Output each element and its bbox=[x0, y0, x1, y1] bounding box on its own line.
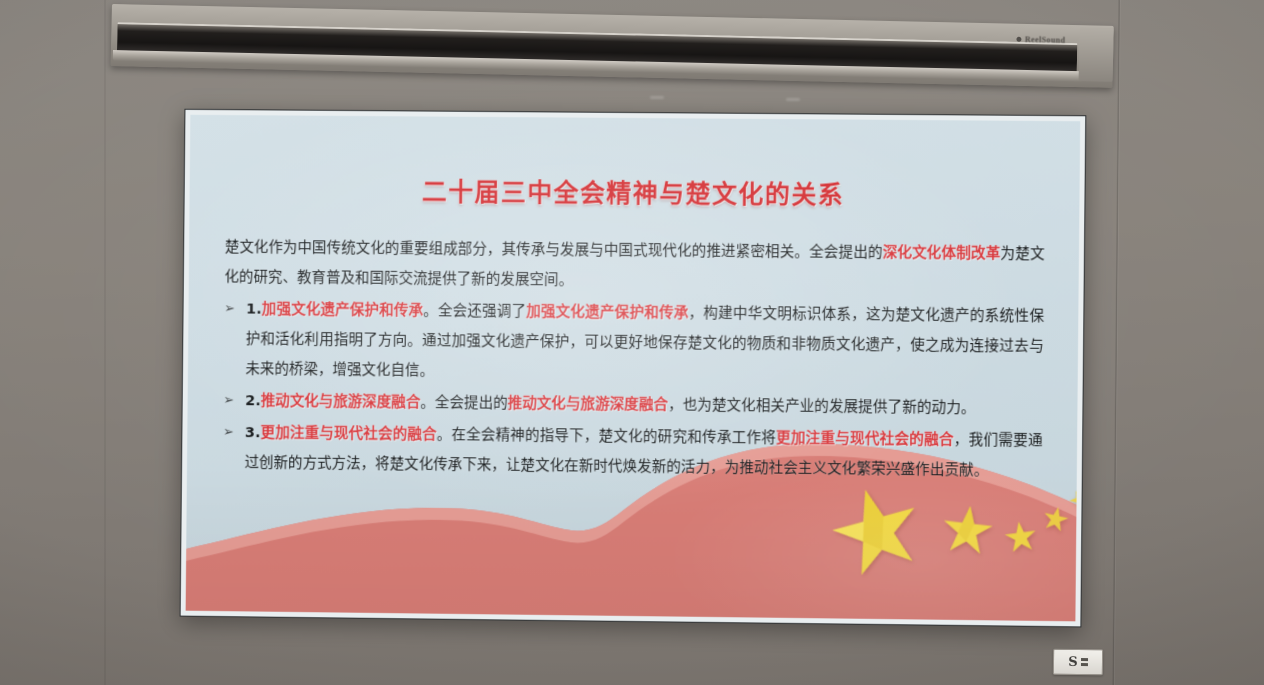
bullet-arrow-icon: ➢ bbox=[223, 418, 234, 448]
projected-slide: 二十届三中全会精神与楚文化的关系 楚文化作为中国传统文化的重要组成部分，其传承与… bbox=[180, 109, 1087, 628]
intro-paragraph: 楚文化作为中国传统文化的重要组成部分，其传承与发展与中国式现代化的推进紧密相关。… bbox=[224, 233, 1044, 300]
bullet-number-3: 3. bbox=[245, 424, 261, 441]
slide-canvas: 二十届三中全会精神与楚文化的关系 楚文化作为中国传统文化的重要组成部分，其传承与… bbox=[186, 115, 1081, 622]
equipment-label-bars-icon bbox=[1081, 658, 1088, 666]
highlighted-phrase: 推动文化与旅游深度融合 bbox=[508, 395, 669, 414]
slide-body: 楚文化作为中国传统文化的重要组成部分，其传承与发展与中国式现代化的推进紧密相关。… bbox=[223, 233, 1045, 487]
projector-brand-logo: ReelSound bbox=[1016, 35, 1066, 45]
highlighted-phrase: 更加注重与现代社会的融合 bbox=[776, 429, 954, 448]
bullet-item-3: ➢ 3.更加注重与现代社会的融合。在全会精神的指导下，楚文化的研究和传承工作将更… bbox=[223, 418, 1043, 487]
slide-title: 二十届三中全会精神与楚文化的关系 bbox=[189, 171, 1079, 214]
brand-dot-icon bbox=[1016, 37, 1021, 42]
equipment-label-glyph: S bbox=[1068, 655, 1078, 668]
wall-seam-left bbox=[104, 0, 106, 685]
bullet-number-2: 2. bbox=[245, 392, 261, 409]
ceiling-mark-2 bbox=[786, 98, 800, 101]
bullet-number-1: 1. bbox=[246, 301, 262, 318]
body-text-run: 。全会提出的 bbox=[420, 394, 507, 412]
bullet-text-1: 加强文化遗产保护和传承。全会还强调了加强文化遗产保护和传承，构建中华文明标识体系… bbox=[245, 301, 1044, 379]
classroom-photo-scene: ReelSound S bbox=[0, 0, 1264, 685]
bullet-text-3: 更加注重与现代社会的融合。在全会精神的指导下，楚文化的研究和传承工作将更加注重与… bbox=[244, 424, 1042, 479]
highlighted-phrase: 深化文化体制改革 bbox=[883, 244, 1001, 262]
brand-mark-text: ReelSound bbox=[1025, 35, 1066, 45]
slide-frame: 二十届三中全会精神与楚文化的关系 楚文化作为中国传统文化的重要组成部分，其传承与… bbox=[180, 109, 1087, 628]
bullet-item-1: ➢ 1.加强文化遗产保护和传承。全会还强调了加强文化遗产保护和传承，构建中华文明… bbox=[223, 294, 1044, 392]
highlighted-phrase: 推动文化与旅游深度融合 bbox=[261, 392, 421, 411]
ceiling-mark-1 bbox=[650, 96, 664, 99]
body-text-run: 。全会还强调了 bbox=[423, 302, 526, 320]
body-text-run: ，也为楚文化相关产业的发展提供了新的动力。 bbox=[668, 396, 976, 416]
equipment-label: S bbox=[1053, 649, 1103, 676]
bullet-list: ➢ 1.加强文化遗产保护和传承。全会还强调了加强文化遗产保护和传承，构建中华文明… bbox=[223, 294, 1045, 486]
bullet-arrow-icon: ➢ bbox=[223, 386, 234, 416]
housing-end-cap bbox=[1079, 27, 1114, 82]
body-text-run: 楚文化作为中国传统文化的重要组成部分，其传承与发展与中国式现代化的推进紧密相关。… bbox=[225, 239, 883, 262]
highlighted-phrase: 加强文化遗产保护和传承 bbox=[262, 301, 424, 319]
bullet-arrow-icon: ➢ bbox=[224, 294, 235, 324]
highlighted-phrase: 加强文化遗产保护和传承 bbox=[526, 303, 688, 321]
bullet-text-2: 推动文化与旅游深度融合。全会提出的推动文化与旅游深度融合，也为楚文化相关产业的发… bbox=[261, 392, 976, 416]
highlighted-phrase: 更加注重与现代社会的融合 bbox=[260, 424, 436, 443]
body-text-run: 。在全会精神的指导下，楚文化的研究和传承工作将 bbox=[437, 426, 776, 446]
